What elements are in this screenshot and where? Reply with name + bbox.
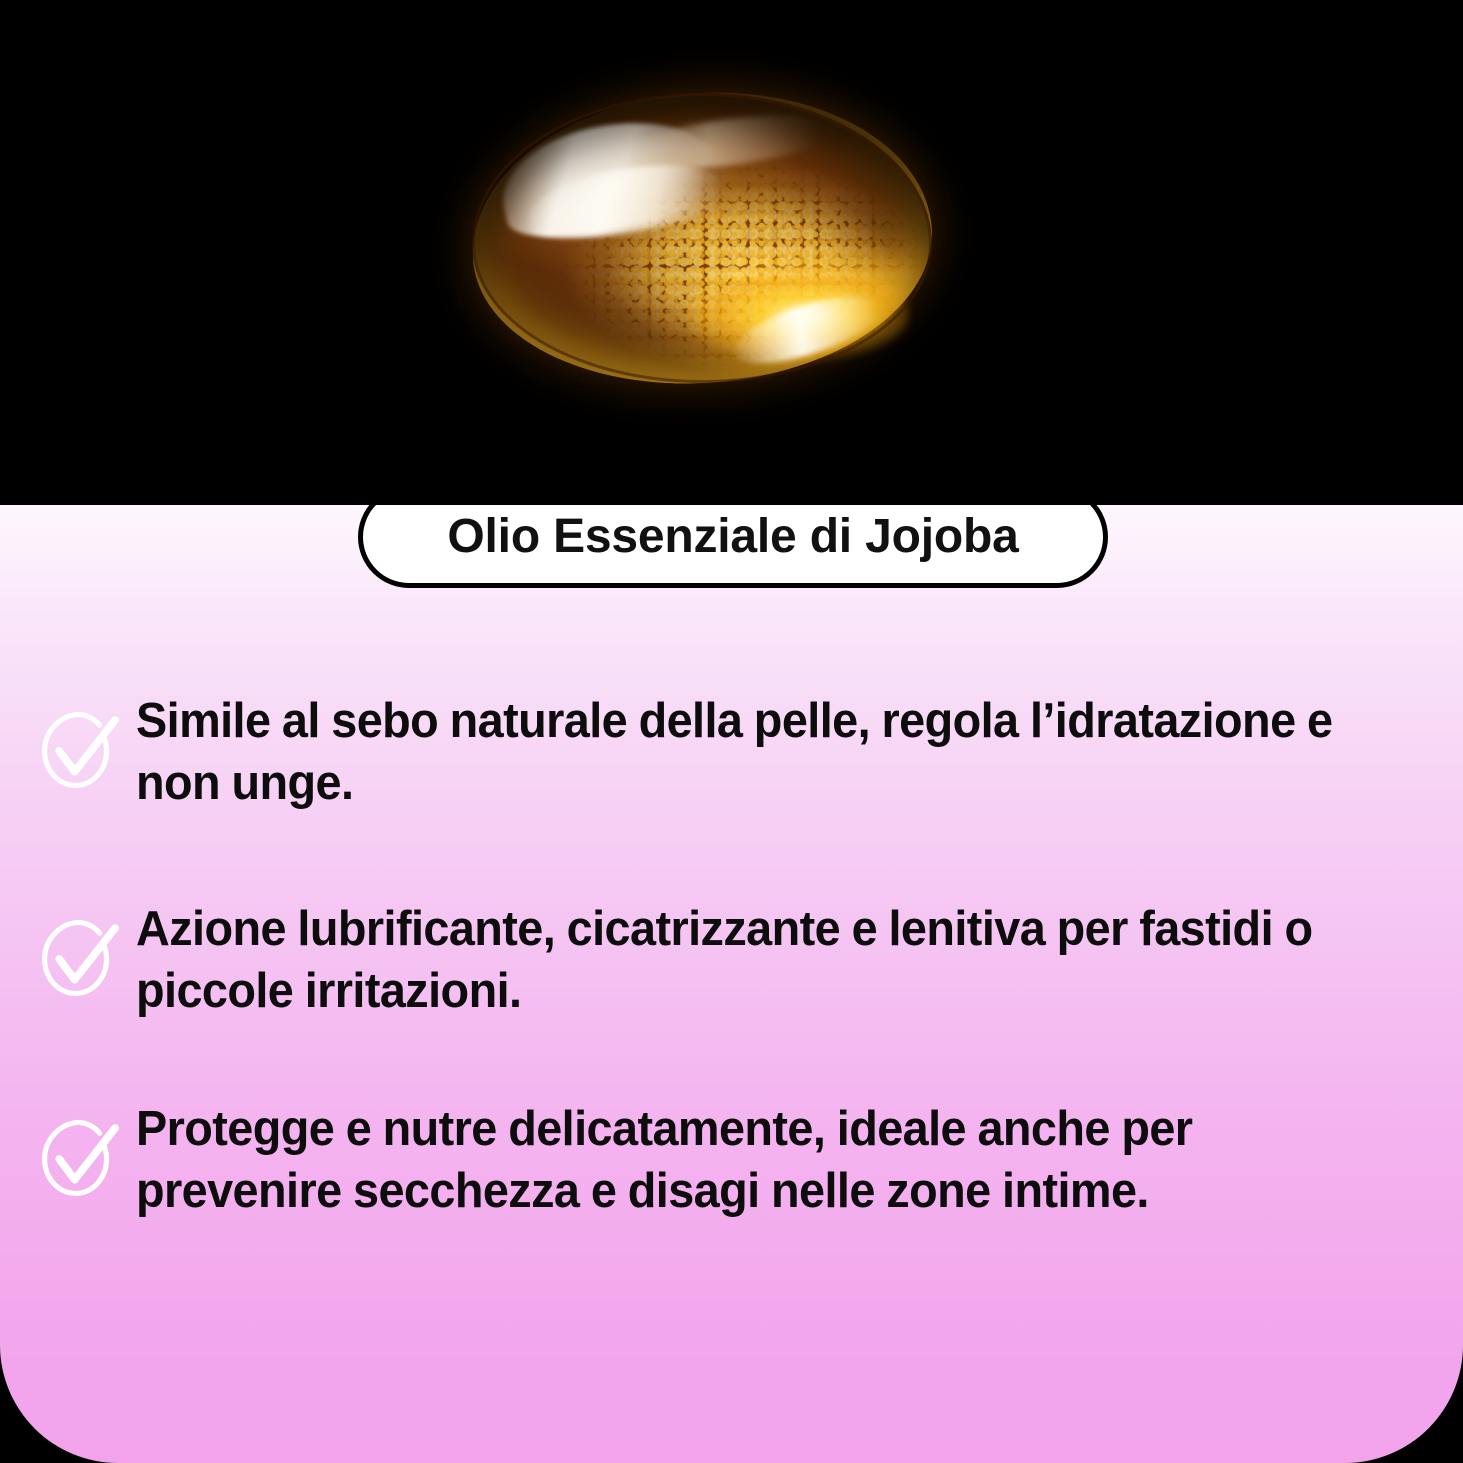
check-circle-icon xyxy=(36,916,122,1002)
benefits-list: Simile al sebo naturale della pelle, reg… xyxy=(0,690,1463,1222)
check-circle-icon xyxy=(36,708,122,794)
hero-image-area xyxy=(0,0,1463,505)
list-item: Simile al sebo naturale della pelle, reg… xyxy=(0,690,1463,814)
list-item-text: Azione lubrificante, cicatrizzante e len… xyxy=(136,898,1386,1022)
check-circle-icon xyxy=(36,1116,122,1202)
list-item: Azione lubrificante, cicatrizzante e len… xyxy=(0,898,1463,1022)
list-item: Protegge e nutre delicatamente, ideale a… xyxy=(0,1098,1463,1222)
list-item-text: Protegge e nutre delicatamente, ideale a… xyxy=(136,1098,1386,1222)
jojoba-oil-droplet-image xyxy=(472,93,932,383)
page-title: Olio Essenziale di Jojoba xyxy=(447,513,1018,561)
list-item-text: Simile al sebo naturale della pelle, reg… xyxy=(136,690,1386,814)
product-benefit-card: Olio Essenziale di Jojoba Simile al sebo… xyxy=(0,0,1463,1463)
